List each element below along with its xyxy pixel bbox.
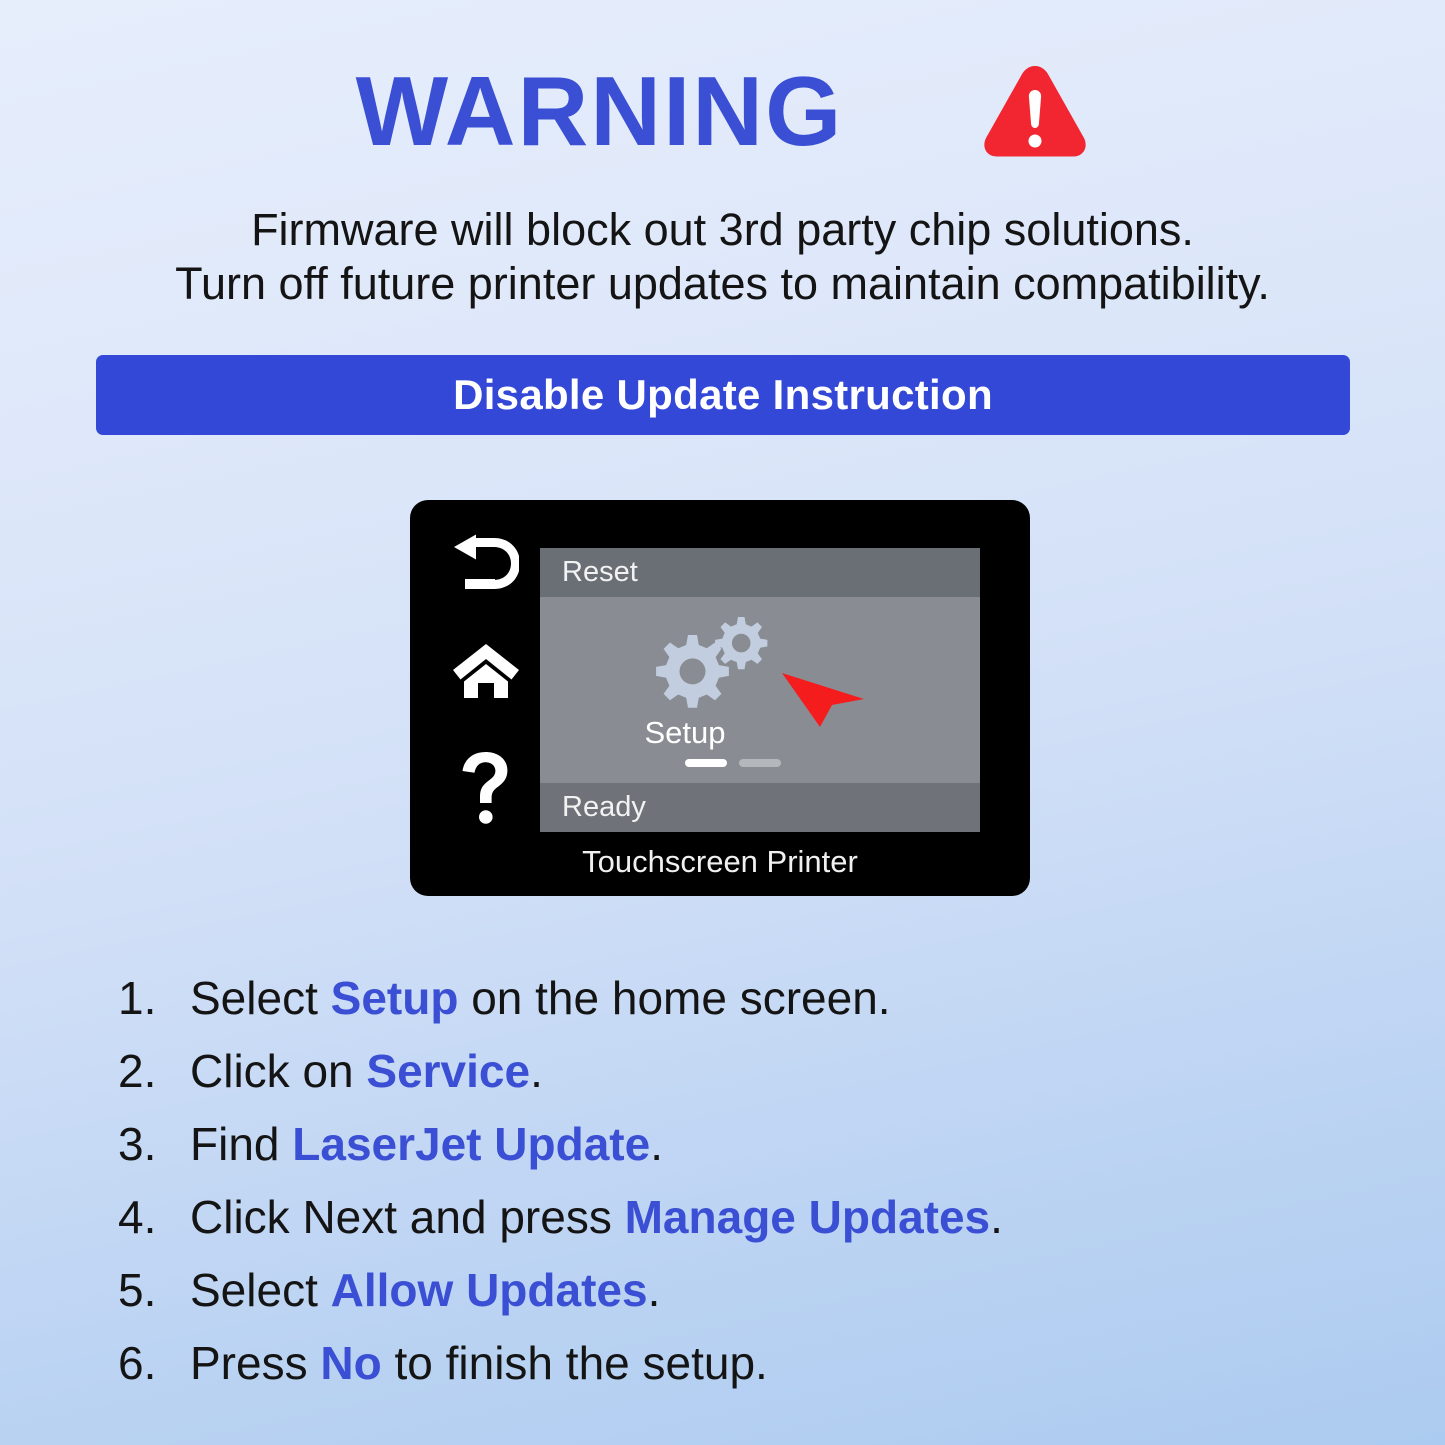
step-number: 1. [118,962,190,1035]
plain-term: Select [190,1264,331,1316]
step-text: Click Next and press Manage Updates. [190,1181,1318,1254]
step-text: Select Allow Updates. [190,1254,1318,1327]
subtitle-line-1: Firmware will block out 3rd party chip s… [0,203,1445,257]
screen-body: Setup [540,597,980,783]
plain-term: . [530,1045,543,1097]
screen-top-bar[interactable]: Reset [540,548,980,597]
highlighted-term: Allow Updates [331,1264,648,1316]
list-item: 6. Press No to finish the setup. [118,1327,1318,1400]
plain-term: Click Next and press [190,1191,625,1243]
highlighted-term: Service [366,1045,530,1097]
plain-term: to finish the setup. [382,1337,768,1389]
warning-header: WARNING [0,62,1445,160]
step-number: 3. [118,1108,190,1181]
back-arrow-icon[interactable] [453,534,519,590]
device-nav-column [432,534,540,824]
plain-term: Press [190,1337,320,1389]
highlighted-term: LaserJet Update [292,1118,650,1170]
plain-term: Click on [190,1045,366,1097]
step-text: Find LaserJet Update. [190,1108,1318,1181]
device-caption: Touchscreen Printer [410,844,1030,880]
plain-term: Find [190,1118,292,1170]
step-text: Press No to finish the setup. [190,1327,1318,1400]
pagination-dot-2[interactable] [739,759,781,767]
highlighted-term: Manage Updates [625,1191,991,1243]
step-number: 5. [118,1254,190,1327]
warning-triangle-icon [981,62,1089,160]
home-icon[interactable] [451,642,521,700]
printer-screen: Reset Setup Ready [540,548,980,832]
plain-term: . [990,1191,1003,1243]
help-question-icon[interactable] [461,752,511,824]
screen-status-bar: Ready [540,783,980,832]
disable-update-instruction-banner[interactable]: Disable Update Instruction [96,355,1350,435]
page-title: WARNING [356,62,844,160]
subtitle-block: Firmware will block out 3rd party chip s… [0,203,1445,311]
highlighted-term: Setup [331,972,459,1024]
plain-term: . [650,1118,663,1170]
list-item: 5. Select Allow Updates. [118,1254,1318,1327]
list-item: 1. Select Setup on the home screen. [118,962,1318,1035]
plain-term: . [648,1264,661,1316]
red-arrow-cursor [780,659,866,729]
list-item: 4. Click Next and press Manage Updates. [118,1181,1318,1254]
step-number: 2. [118,1035,190,1108]
step-number: 4. [118,1181,190,1254]
step-number: 6. [118,1327,190,1400]
step-text: Click on Service. [190,1035,1318,1108]
gears-icon[interactable] [652,615,770,711]
list-item: 2. Click on Service. [118,1035,1318,1108]
ready-status-label: Ready [562,791,646,824]
banner-label: Disable Update Instruction [453,371,993,419]
highlighted-term: No [320,1337,381,1389]
plain-term: on the home screen. [458,972,890,1024]
touchscreen-printer-device: Reset Setup Ready To [410,500,1030,896]
instruction-steps-list: 1. Select Setup on the home screen. 2. C… [118,962,1318,1400]
plain-term: Select [190,972,331,1024]
pagination-dot-1[interactable] [685,759,727,767]
step-text: Select Setup on the home screen. [190,962,1318,1035]
screen-pagination [685,759,781,767]
list-item: 3. Find LaserJet Update. [118,1108,1318,1181]
reset-label: Reset [562,556,638,589]
subtitle-line-2: Turn off future printer updates to maint… [0,257,1445,311]
